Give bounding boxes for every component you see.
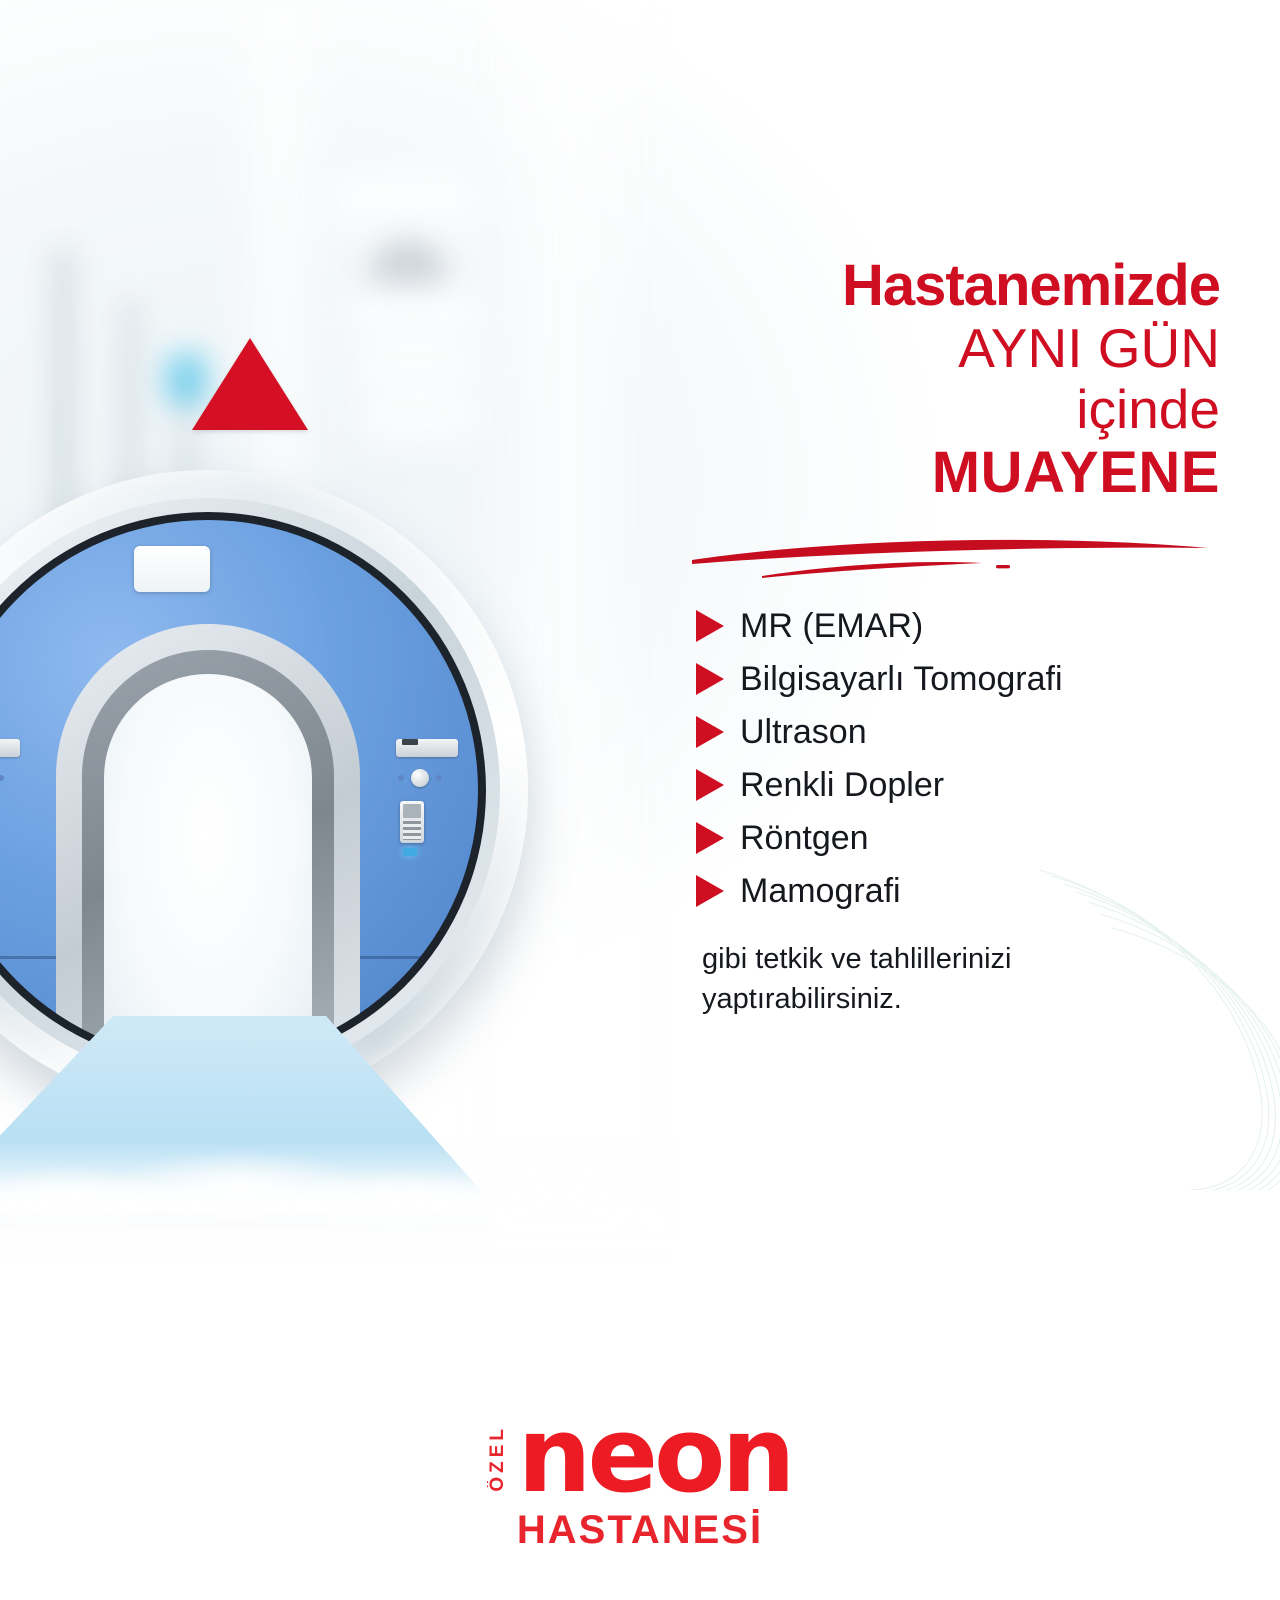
service-label: Röntgen	[740, 819, 869, 858]
list-item[interactable]: Mamografi	[696, 872, 1220, 911]
scanner-bore-opening	[104, 674, 312, 1060]
arrow-bullet-icon	[696, 875, 724, 907]
control-keypad	[400, 801, 424, 843]
mri-scanner-illustration	[0, 470, 618, 1210]
service-label: Mamografi	[740, 872, 901, 911]
closing-line-1: gibi tetkik ve tahlillerinizi	[702, 939, 1142, 979]
ceiling-light-panel	[360, 404, 476, 438]
arrow-bullet-icon	[696, 769, 724, 801]
control-indicator-dot	[436, 775, 442, 781]
ceiling-light-panel	[348, 296, 478, 336]
control-knob	[411, 769, 429, 787]
scanner-display-panel	[134, 546, 210, 592]
control-display-strip	[0, 739, 20, 757]
closing-line-2: yaptırabilirsiniz.	[702, 979, 1142, 1019]
control-display-strip	[396, 739, 458, 757]
fog-effect	[0, 1140, 680, 1260]
logo-subtitle: HASTANESİ	[0, 1508, 1280, 1553]
wall-fixture	[370, 240, 446, 286]
list-item[interactable]: Ultrason	[696, 713, 1220, 752]
scanner-control-panel-right	[396, 736, 458, 856]
list-item[interactable]: Bilgisayarlı Tomografi	[696, 660, 1220, 699]
service-label: MR (EMAR)	[740, 607, 923, 646]
copy-block: Hastanemizde AYNI GÜN içinde MUAYENE MR …	[690, 255, 1220, 1019]
scanner-outer-shell	[0, 470, 528, 1110]
arrow-bullet-icon	[696, 610, 724, 642]
list-item[interactable]: Röntgen	[696, 819, 1220, 858]
headline-line-3: içinde	[690, 379, 1220, 441]
headline-line-4: MUAYENE	[690, 441, 1220, 506]
scanner-control-panel-left	[0, 736, 20, 856]
logo-wordmark-row: ÖZEL neon	[488, 1408, 791, 1504]
headline: Hastanemizde AYNI GÜN içinde MUAYENE	[690, 255, 1220, 506]
headline-line-1: Hastanemizde	[690, 255, 1220, 318]
logo-prefix: ÖZEL	[488, 1421, 507, 1492]
red-triangle-icon	[192, 338, 308, 430]
arrow-bullet-icon	[696, 663, 724, 695]
control-indicator-dot	[398, 775, 404, 781]
arrow-bullet-icon	[696, 716, 724, 748]
closing-paragraph: gibi tetkik ve tahlillerinizi yaptırabil…	[702, 939, 1142, 1019]
poster-canvas: Hastanemizde AYNI GÜN içinde MUAYENE MR …	[0, 0, 1280, 1600]
ceiling-light-panel	[356, 352, 476, 388]
ceiling-light-panel	[333, 180, 473, 230]
control-led	[403, 848, 417, 856]
list-item[interactable]: MR (EMAR)	[696, 607, 1220, 646]
services-list: MR (EMAR) Bilgisayarlı Tomografi Ultraso…	[696, 607, 1220, 911]
list-item[interactable]: Renkli Dopler	[696, 766, 1220, 805]
arrow-bullet-icon	[696, 822, 724, 854]
logo-name: neon	[517, 1408, 791, 1504]
brand-logo[interactable]: ÖZEL neon HASTANESİ	[0, 1408, 1280, 1553]
headline-line-2: AYNI GÜN	[690, 318, 1220, 380]
service-label: Renkli Dopler	[740, 766, 944, 805]
control-indicator-dot	[0, 775, 4, 781]
service-label: Bilgisayarlı Tomografi	[740, 660, 1063, 699]
service-label: Ultrason	[740, 713, 867, 752]
brush-stroke-divider	[690, 530, 1210, 582]
